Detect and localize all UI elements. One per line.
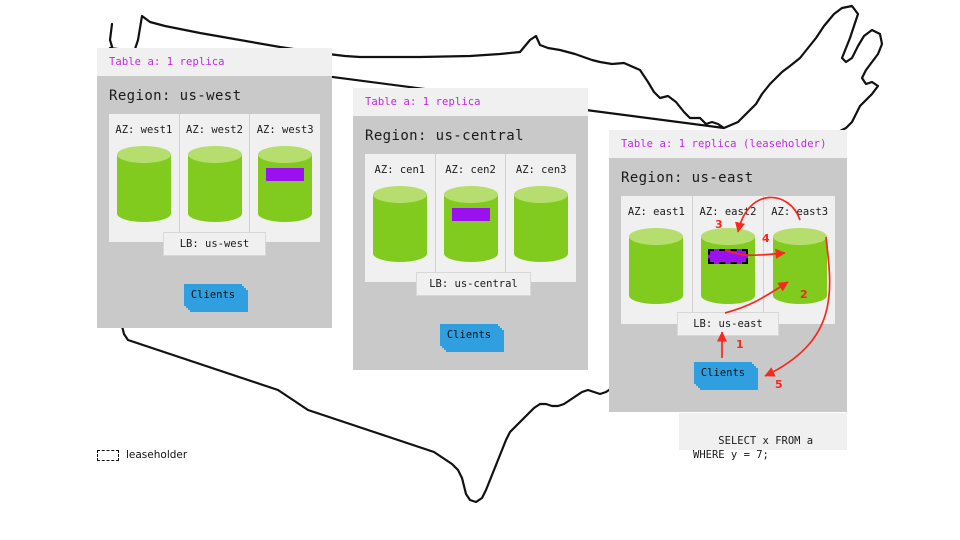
range-replica-cen2 [452, 208, 490, 221]
sql-query-text: SELECT x FROM a WHERE y = 7; [693, 435, 813, 461]
clients-box-us-east[interactable]: Clients [694, 362, 752, 384]
region-panel-us-east: Table a: 1 replica (leaseholder) Region:… [609, 130, 847, 412]
az-cell-west1[interactable]: AZ: west1 [109, 114, 179, 242]
cylinder-body [514, 194, 568, 254]
range-replica-west3 [266, 168, 304, 181]
lb-label-us-east: LB: us-east [693, 318, 763, 330]
az-label-west2: AZ: west2 [186, 124, 243, 136]
clients-box-us-central[interactable]: Clients [440, 324, 498, 346]
az-cell-east3[interactable]: AZ: east3 [763, 196, 835, 324]
az-row-us-east: AZ: east1 AZ: east2 AZ: east3 [621, 196, 835, 324]
load-balancer-us-east[interactable]: LB: us-east [677, 312, 779, 336]
clients-box-us-west[interactable]: Clients [184, 284, 242, 306]
cylinder-top [373, 186, 427, 203]
az-label-cen3: AZ: cen3 [516, 164, 567, 176]
flow-step-number-5: 5 [775, 378, 783, 391]
leaseholder-swatch-icon [97, 450, 119, 461]
az-label-west3: AZ: west3 [257, 124, 314, 136]
az-row-us-central: AZ: cen1 AZ: cen2 AZ: cen3 [365, 154, 576, 282]
node-cylinder-east1[interactable] [629, 228, 683, 304]
cylinder-body [258, 154, 312, 214]
az-cell-cen3[interactable]: AZ: cen3 [505, 154, 576, 282]
cylinder-body [188, 154, 242, 214]
cylinder-top [701, 228, 755, 245]
clients-label-us-east: Clients [694, 362, 752, 384]
cylinder-body [117, 154, 171, 214]
cylinder-top [258, 146, 312, 163]
sql-query-box: SELECT x FROM a WHERE y = 7; [679, 413, 847, 450]
range-leaseholder-east2 [708, 249, 748, 264]
cylinder-top [444, 186, 498, 203]
cylinder-body [373, 194, 427, 254]
region-title-us-east: Region: us-east [609, 158, 847, 196]
legend-label: leaseholder [126, 449, 187, 461]
flow-step-number-2: 2 [800, 288, 808, 301]
region-panel-us-west: Table a: 1 replica Region: us-west AZ: w… [97, 48, 332, 328]
panel-header-us-east: Table a: 1 replica (leaseholder) [609, 130, 847, 158]
az-cell-west3[interactable]: AZ: west3 [249, 114, 320, 242]
load-balancer-us-west[interactable]: LB: us-west [163, 232, 266, 256]
az-cell-cen2[interactable]: AZ: cen2 [435, 154, 506, 282]
az-row-us-west: AZ: west1 AZ: west2 AZ: west3 [109, 114, 320, 242]
cylinder-top [773, 228, 827, 245]
clients-label-us-west: Clients [184, 284, 242, 306]
cylinder-body [773, 236, 827, 296]
region-panel-us-central: Table a: 1 replica Region: us-central AZ… [353, 88, 588, 370]
load-balancer-us-central[interactable]: LB: us-central [416, 272, 531, 296]
lb-label-us-west: LB: us-west [180, 238, 250, 250]
lb-label-us-central: LB: us-central [429, 278, 518, 290]
cylinder-top [117, 146, 171, 163]
clients-label-us-central: Clients [440, 324, 498, 346]
cylinder-top [629, 228, 683, 245]
node-cylinder-cen1[interactable] [373, 186, 427, 262]
flow-step-number-3: 3 [715, 218, 723, 231]
node-cylinder-west3[interactable] [258, 146, 312, 222]
node-cylinder-cen2[interactable] [444, 186, 498, 262]
node-cylinder-west1[interactable] [117, 146, 171, 222]
node-cylinder-east2[interactable] [701, 228, 755, 304]
replica-label-us-west: Table a: 1 replica [109, 56, 225, 68]
az-label-east2: AZ: east2 [700, 206, 757, 218]
az-label-cen1: AZ: cen1 [375, 164, 426, 176]
az-cell-west2[interactable]: AZ: west2 [179, 114, 250, 242]
cylinder-body [701, 236, 755, 296]
az-label-cen2: AZ: cen2 [445, 164, 496, 176]
panel-header-us-central: Table a: 1 replica [353, 88, 588, 116]
node-cylinder-west2[interactable] [188, 146, 242, 222]
az-label-west1: AZ: west1 [115, 124, 172, 136]
cylinder-body [629, 236, 683, 296]
az-cell-east2[interactable]: AZ: east2 [692, 196, 764, 324]
cylinder-top [514, 186, 568, 203]
node-cylinder-cen3[interactable] [514, 186, 568, 262]
flow-step-number-4: 4 [762, 232, 770, 245]
flow-step-number-1: 1 [736, 338, 744, 351]
replica-label-us-central: Table a: 1 replica [365, 96, 481, 108]
diagram-canvas: Table a: 1 replica Region: us-west AZ: w… [0, 0, 960, 540]
region-title-us-west: Region: us-west [97, 76, 332, 114]
az-label-east1: AZ: east1 [628, 206, 685, 218]
region-title-us-central: Region: us-central [353, 116, 588, 154]
az-label-east3: AZ: east3 [771, 206, 828, 218]
az-cell-east1[interactable]: AZ: east1 [621, 196, 692, 324]
panel-header-us-west: Table a: 1 replica [97, 48, 332, 76]
cylinder-body [444, 194, 498, 254]
replica-label-us-east: Table a: 1 replica (leaseholder) [621, 138, 827, 150]
az-cell-cen1[interactable]: AZ: cen1 [365, 154, 435, 282]
cylinder-top [188, 146, 242, 163]
legend: leaseholder [97, 449, 187, 461]
